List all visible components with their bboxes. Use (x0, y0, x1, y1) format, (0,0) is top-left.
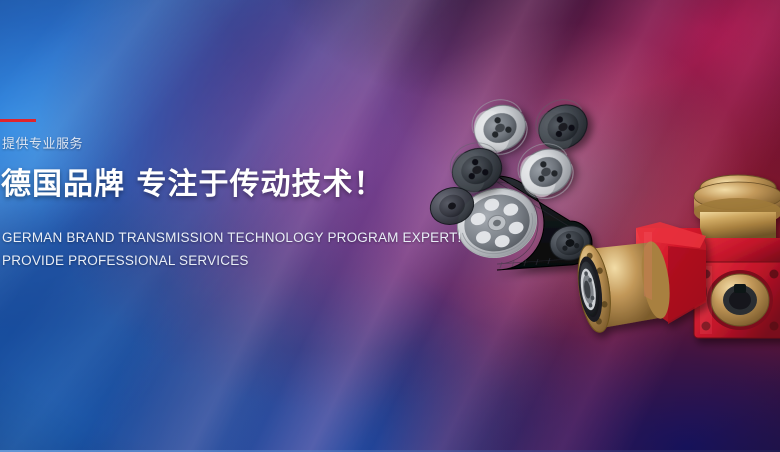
tagline-line-2: PROVIDE PROFESSIONAL SERVICES (2, 253, 249, 268)
hero-banner: 提供专业服务 德国品牌 专注于传动技术！ GERMAN BRAND TRANSM… (0, 0, 780, 452)
accent-rule (0, 119, 36, 122)
tagline-line-1: GERMAN BRAND TRANSMISSION TECHNOLOGY PRO… (2, 230, 461, 245)
banner-copy: 提供专业服务 德国品牌 专注于传动技术！ GERMAN BRAND TRANSM… (0, 0, 420, 452)
headline-text: 德国品牌 专注于传动技术！ (1, 167, 384, 203)
eyebrow-text: 提供专业服务 (2, 133, 83, 152)
